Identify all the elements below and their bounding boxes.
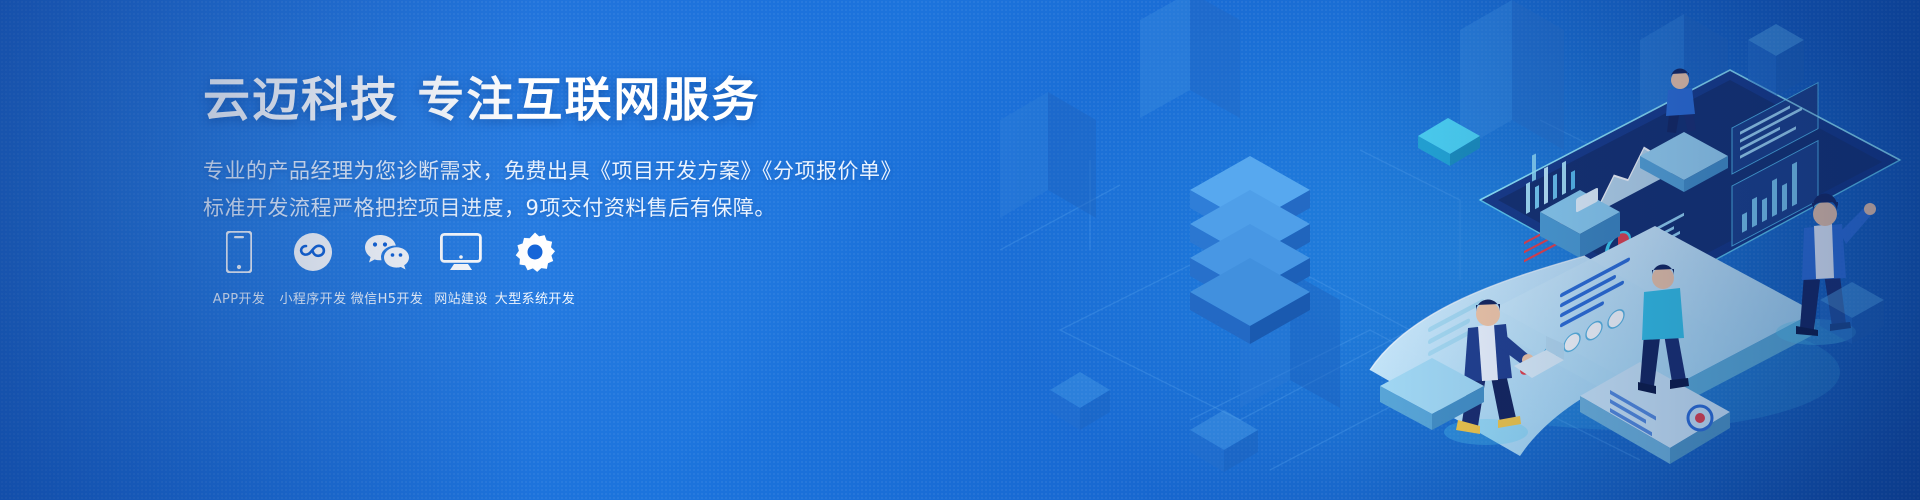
gear-icon [515,230,555,274]
service-label: APP开发 [213,288,266,307]
mobile-phone-icon [226,230,252,274]
service-item-miniprogram[interactable]: 小程序开发 [277,230,349,307]
service-label: 小程序开发 [279,288,346,307]
subtitle-line-2: 标准开发流程严格把控项目进度，9项交付资料售后有保障。 [203,190,903,227]
page-title: 云迈科技 专注互联网服务 [203,72,903,131]
hero-copy: 云迈科技 专注互联网服务 专业的产品经理为您诊断需求，免费出具《项目开发方案》《… [203,72,903,226]
service-item-wechat-h5[interactable]: 微信H5开发 [351,230,423,307]
service-label: 大型系统开发 [495,288,575,307]
service-item-app[interactable]: APP开发 [203,230,275,307]
wechat-icon [364,230,410,274]
service-item-large-system[interactable]: 大型系统开发 [499,230,571,307]
subtitle-line-1: 专业的产品经理为您诊断需求，免费出具《项目开发方案》《分项报价单》 [203,153,903,190]
service-label: 微信H5开发 [351,288,423,307]
hero-subtitle: 专业的产品经理为您诊断需求，免费出具《项目开发方案》《分项报价单》 标准开发流程… [203,153,903,227]
monitor-icon [440,230,482,274]
mini-program-icon [293,230,333,274]
service-label: 网站建设 [434,288,488,307]
service-item-website[interactable]: 网站建设 [425,230,497,307]
service-list: APP开发 小程序开发 微信 [203,230,571,307]
isometric-tech-illustration [940,0,1920,500]
hero-banner: 云迈科技 专注互联网服务 专业的产品经理为您诊断需求，免费出具《项目开发方案》《… [0,0,1920,500]
